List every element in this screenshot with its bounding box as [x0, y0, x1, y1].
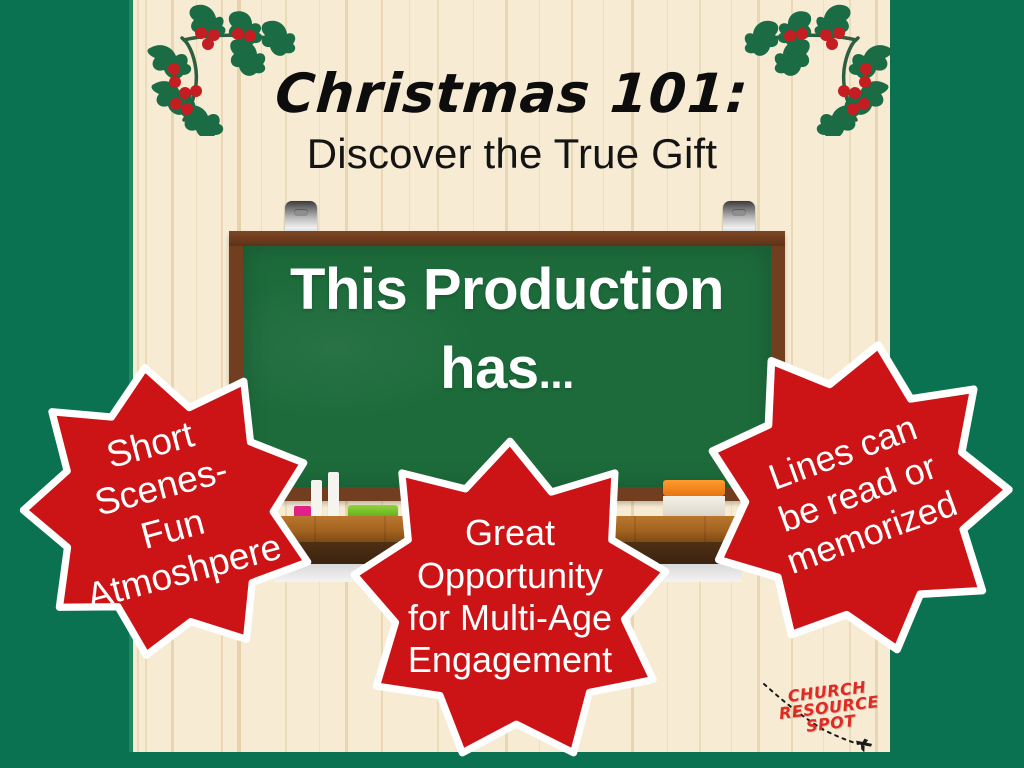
brand-logo[interactable]: CHURCH RESOURCE SPOT — [762, 672, 892, 762]
chalkboard-message: This Production has... — [243, 260, 771, 400]
starburst-short-scenes[interactable]: Short Scenes- Fun Atmoshpere — [22, 358, 312, 658]
starburst-lines-read[interactable]: Lines can be read or memorized — [705, 338, 1010, 648]
airplane-icon — [853, 736, 873, 754]
mount-notch — [732, 209, 746, 216]
chalkboard-line-1: This Production — [290, 257, 724, 322]
page-title: Christmas 101: — [0, 62, 1024, 125]
page-subtitle: Discover the True Gift — [0, 130, 1024, 178]
chalk-stick — [328, 472, 339, 517]
chalkboard-line-2: has... — [243, 339, 771, 400]
slide-canvas: Christmas 101: Discover the True Gift Th… — [0, 0, 1024, 768]
frame-top-bevel — [229, 231, 785, 246]
chalk-stick — [311, 480, 322, 517]
chalkboard-ellipsis: ... — [539, 349, 574, 398]
mount-notch — [294, 209, 308, 216]
starburst-multi-age[interactable]: Great Opportunity for Multi-Age Engageme… — [345, 438, 675, 756]
